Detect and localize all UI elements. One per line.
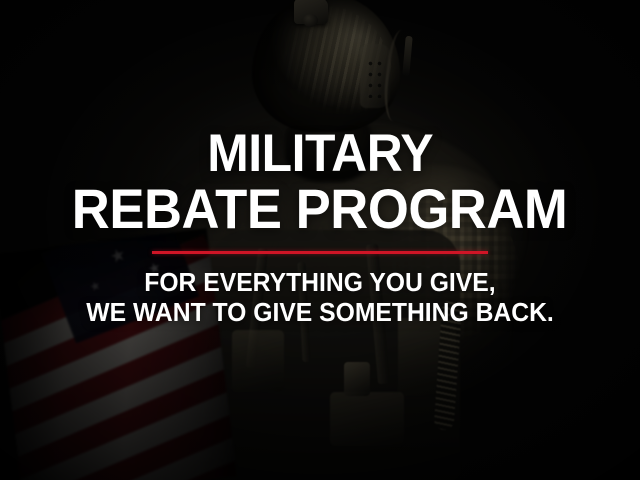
headline-line-2: REBATE PROGRAM: [72, 182, 567, 237]
military-rebate-program-poster: ★ ★ ★ MILITARY REBATE PROGRAM FOR EVERYT…: [0, 0, 640, 480]
red-divider-rule: [152, 251, 488, 254]
subline-line-1: FOR EVERYTHING YOU GIVE,: [144, 267, 495, 297]
subline-line-2: WE WANT TO GIVE SOMETHING BACK.: [86, 297, 553, 327]
poster-text-overlay: MILITARY REBATE PROGRAM FOR EVERYTHING Y…: [0, 0, 640, 480]
headline-line-1: MILITARY: [207, 128, 433, 180]
